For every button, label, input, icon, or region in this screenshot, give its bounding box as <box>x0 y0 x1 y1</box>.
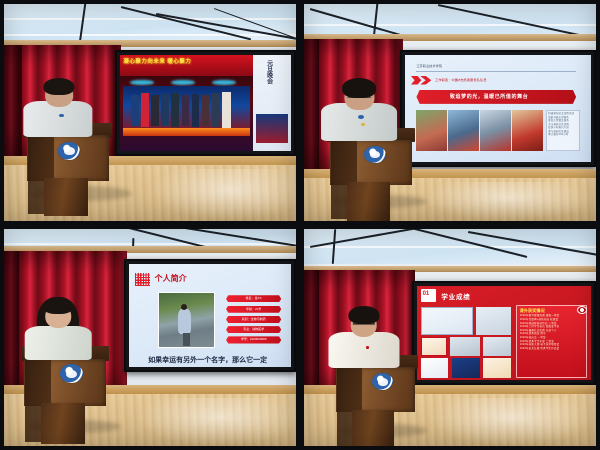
podium-top-left <box>24 123 112 214</box>
certificate-thumb <box>476 307 511 335</box>
certificate-thumb <box>421 337 447 356</box>
collage-panel-top-left: 凝心聚力向未来 暖心聚力 <box>0 0 300 225</box>
led-display-top-left: 凝心聚力向未来 暖心聚力 <box>115 50 296 156</box>
slide-banner-text: 致追梦的光，温暖已所值的舞台 <box>450 93 528 100</box>
stage-curtain-sliver <box>4 251 19 399</box>
podium-bottom-right <box>333 355 418 446</box>
collage-panel-bottom-right: 01 学业成绩 课外获奖情况 2022年数学建模竞赛 省级一 <box>300 225 600 450</box>
info-pill: 专业：动物医学 <box>226 326 281 333</box>
student-speaker-2 <box>330 73 388 138</box>
chevron-right-icon <box>420 76 431 85</box>
slide-volunteer: 江苏职业技术学院 工作职责：中国ศ志愿者服务队队员 致追梦的光，温暖已所值的舞台 <box>405 55 591 162</box>
slide-portrait-photo <box>158 292 215 348</box>
collage-panel-bottom-left: 个人简介 姓名：秦XX 年龄：21岁 系别：生物与制药 专业：动物医学 学号：2… <box>0 225 300 450</box>
section-number: 01 <box>423 291 430 297</box>
certificate-thumb <box>483 358 511 379</box>
side-slide-title: 元旦晚会 <box>265 60 274 84</box>
slide-personal-intro: 个人简介 姓名：秦XX 年龄：21岁 系别：生物与制药 专业：动物医学 学号：2… <box>129 264 291 367</box>
uniform-badge-icon <box>358 115 363 119</box>
school-emblem-icon <box>58 142 81 160</box>
photo-top-left: 凝心聚力向未来 暖心聚力 <box>4 4 296 221</box>
info-pill: 年龄：21岁 <box>226 306 281 313</box>
speaker-hair <box>348 306 379 324</box>
photo-bottom-right: 01 学业成绩 课外获奖情况 2022年数学建模竞赛 省级一 <box>304 229 596 446</box>
slide-academic-results: 01 学业成绩 课外获奖情况 2022年数学建模竞赛 省级一 <box>417 286 591 380</box>
slide-header-small-text: 江苏职业技术学院 <box>416 64 442 68</box>
photo-top-right: 江苏职业技术学院 工作职责：中国ศ志愿者服务队队员 致追梦的光，温暖已所值的舞台 <box>304 4 596 221</box>
collage-panel-top-right: 江苏职业技术学院 工作职责：中国ศ志愿者服务队队员 致追梦的光，温暖已所值的舞台 <box>300 0 600 225</box>
speaker-hair <box>44 78 75 95</box>
slide-footer-text: 如果幸运有另外一个名字，那么它一定 <box>148 355 267 365</box>
slide-banner-text: 凝心聚力向未来 暖心聚力 <box>123 57 191 65</box>
certificate-thumb <box>421 307 473 335</box>
podium-base <box>347 182 391 220</box>
certificate-thumb <box>421 358 449 379</box>
slide-bullet-line: 工作职责：中国ศ志愿者服务队队员 <box>435 78 487 82</box>
led-display-top-right: 江苏职业技术学院 工作职责：中国ศ志愿者服务队队员 致追梦的光，温暖已所值的舞台 <box>400 50 596 167</box>
speaker-body <box>25 326 92 360</box>
podium-bottom-left <box>22 346 110 441</box>
photo-bottom-left: 个人简介 姓名：秦XX 年龄：21岁 系别：生物与制药 专业：动物医学 学号：2… <box>4 229 296 446</box>
info-pill: 学号：2200000086 <box>226 336 281 343</box>
awards-list: 2022年数学建模竞赛 省级一等奖 2022年互联网+创新创业 校级奖 2022… <box>520 314 586 376</box>
slide-side-notes: 积极参加社会实践活动 组织开展志愿服务 参加大型赛会服务 关注基层社区实践 投身… <box>548 112 580 150</box>
certificate-thumb <box>450 337 480 356</box>
podium-base <box>44 178 88 216</box>
stage-curtain-sliver <box>4 45 22 160</box>
photo-collage: 凝心聚力向未来 暖心聚力 <box>0 0 600 450</box>
speaker-hair <box>43 298 73 314</box>
info-pill: 姓名：秦XX <box>226 295 281 302</box>
stage-curtain-sliver <box>304 270 319 398</box>
certificate-thumb <box>483 337 511 356</box>
slide-title: 个人简介 <box>155 273 187 284</box>
certificate-thumb <box>452 358 480 379</box>
section-title: 学业成绩 <box>441 291 470 301</box>
uniform-badge-icon <box>361 123 365 126</box>
slide-festive: 凝心聚力向未来 暖心聚力 <box>120 55 291 151</box>
glasses-icon <box>353 323 375 326</box>
glasses-icon <box>348 95 371 98</box>
stage-curtain-sliver <box>304 39 319 174</box>
awards-panel-title: 课外获奖情况 <box>520 308 545 314</box>
led-display-bottom-left: 个人简介 姓名：秦XX 年龄：21岁 系别：生物与制药 专业：动物医学 学号：2… <box>124 259 296 372</box>
info-pill: 系别：生物与制药 <box>226 316 281 323</box>
led-display-bottom-right: 01 学业成绩 课外获奖情况 2022年数学建模竞赛 省级一 <box>412 281 596 385</box>
grid-dots-icon <box>135 273 150 286</box>
speaker-body <box>328 332 399 368</box>
student-speaker-1 <box>30 73 85 134</box>
podium-top-right <box>327 128 415 219</box>
student-speaker-3 <box>30 292 85 357</box>
podium-base <box>352 410 394 446</box>
podium-base <box>41 403 85 443</box>
slide-photo-strip <box>416 110 542 151</box>
student-speaker-4 <box>336 301 391 366</box>
